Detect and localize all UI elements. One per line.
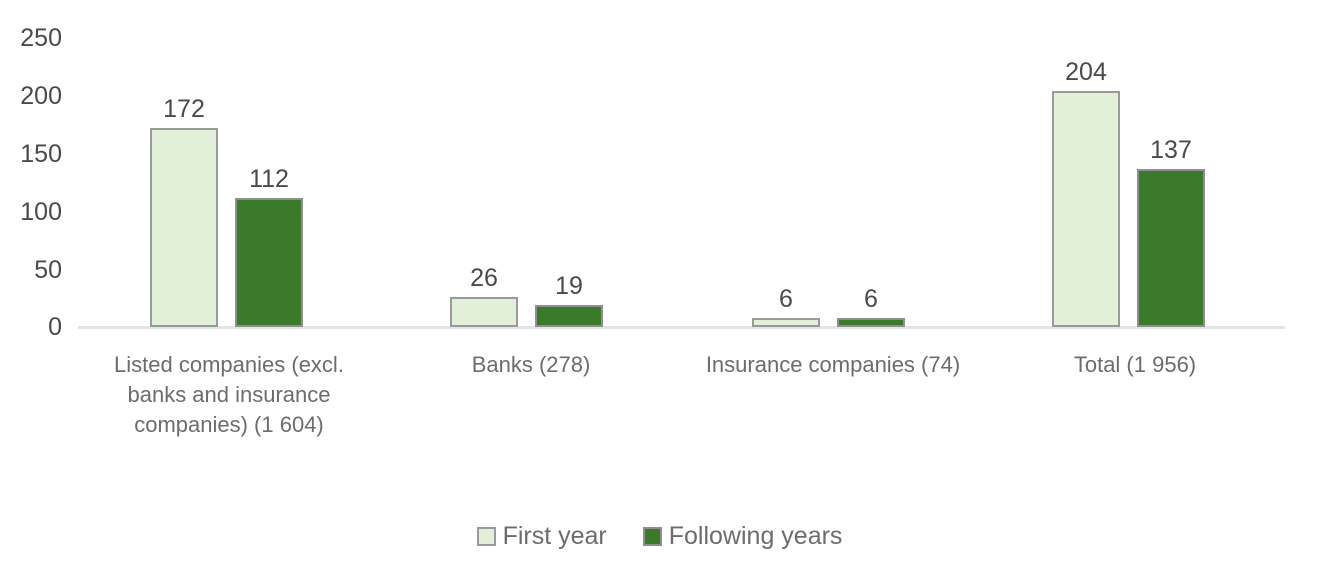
bar-total-first-year: [1052, 91, 1120, 327]
category-label-banks: Banks (278): [380, 350, 682, 380]
category-label-line: Insurance companies (74): [682, 350, 984, 380]
y-tick-150: 150: [20, 142, 62, 167]
legend-label-following-years: Following years: [669, 522, 843, 550]
bar-value-total-first-year: 204: [1026, 60, 1146, 85]
chart-legend: First year Following years: [0, 522, 1319, 550]
category-label-total: Total (1 956): [984, 350, 1286, 380]
bar-insurance-following-years: [837, 318, 905, 327]
legend-label-first-year: First year: [503, 522, 607, 550]
legend-item-following-years[interactable]: Following years: [643, 522, 843, 550]
bar-insurance-first-year: [752, 318, 820, 327]
bar-value-listed-companies-following-years: 112: [209, 167, 329, 192]
bar-value-total-following-years: 137: [1111, 138, 1231, 163]
category-label-line: banks and insurance: [78, 380, 380, 410]
bar-chart: 250 200 150 100 50 0 172 112 26 19 6 6 2…: [0, 0, 1319, 583]
category-label-insurance-companies: Insurance companies (74): [682, 350, 984, 380]
bar-value-insurance-following-years: 6: [811, 287, 931, 312]
category-label-line: companies) (1 604): [78, 410, 380, 440]
bar-banks-first-year: [450, 297, 518, 327]
bar-listed-companies-first-year: [150, 128, 218, 327]
category-label-line: Total (1 956): [984, 350, 1286, 380]
bar-value-listed-companies-first-year: 172: [124, 97, 244, 122]
plot-area: 172 112 26 19 6 6 204 137: [78, 20, 1285, 327]
legend-item-first-year[interactable]: First year: [477, 522, 607, 550]
y-tick-0: 0: [48, 315, 62, 340]
y-axis: 250 200 150 100 50 0: [0, 0, 70, 340]
dark-green-square-icon: [643, 527, 662, 546]
bar-total-following-years: [1137, 169, 1205, 327]
y-tick-250: 250: [20, 26, 62, 51]
y-tick-50: 50: [34, 258, 62, 283]
category-label-listed-companies: Listed companies (excl. banks and insura…: [78, 350, 380, 440]
y-tick-100: 100: [20, 200, 62, 225]
y-tick-200: 200: [20, 84, 62, 109]
light-green-square-icon: [477, 527, 496, 546]
bar-banks-following-years: [535, 305, 603, 327]
bar-listed-companies-following-years: [235, 198, 303, 327]
category-label-line: Banks (278): [380, 350, 682, 380]
category-label-line: Listed companies (excl.: [78, 350, 380, 380]
bar-value-banks-following-years: 19: [509, 274, 629, 299]
